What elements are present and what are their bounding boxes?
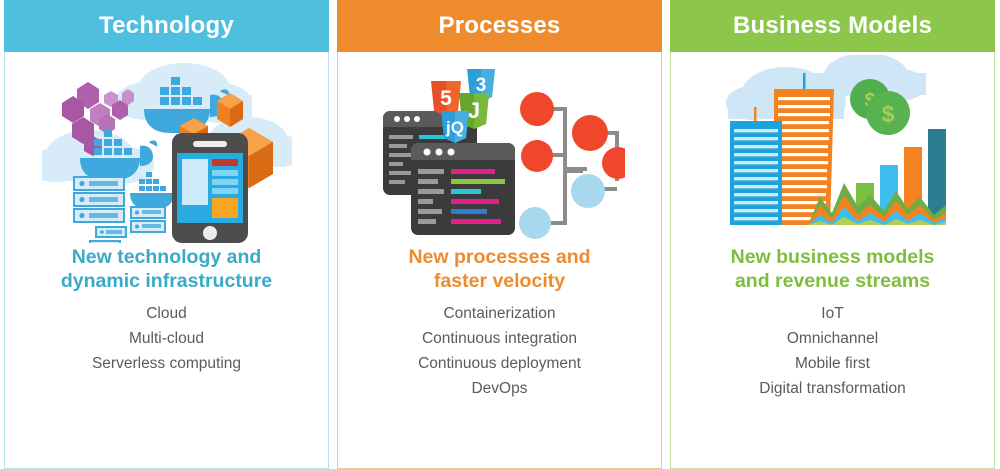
pipeline-node (571, 174, 605, 208)
card-technology: Technology (4, 0, 329, 469)
headline-line-2: and revenue streams (731, 270, 935, 294)
skyscraper-orange (774, 73, 834, 225)
column-technology: Technology (0, 0, 333, 469)
card-title-business-models: Business Models (733, 12, 932, 40)
bullet-list-processes: Containerization Continuous integration … (418, 301, 581, 402)
list-item: IoT (759, 301, 905, 326)
pipeline-node (521, 140, 553, 172)
list-item: Digital transformation (759, 376, 905, 401)
pipeline-node (602, 147, 625, 179)
card-business-models: Business Models (670, 0, 995, 469)
cloud-infrastructure-illustration (5, 54, 328, 244)
headline-line-1: New technology and (61, 246, 272, 270)
list-item: Cloud (92, 301, 241, 326)
card-header-business-models: Business Models (670, 0, 995, 52)
jquery-badge: jQ (441, 111, 469, 143)
svg-text:jQ: jQ (445, 118, 464, 137)
list-item: Multi-cloud (92, 326, 241, 351)
smartphone (172, 133, 248, 243)
column-processes: Processes (333, 0, 666, 469)
card-headline-technology: New technology and dynamic infrastructur… (61, 246, 272, 294)
three-pillar-board: Technology (0, 0, 1000, 469)
card-body-business-models: $ $ (670, 52, 995, 469)
card-headline-business-models: New business models and revenue streams (731, 246, 935, 294)
pipeline-node (572, 115, 608, 151)
svg-text:3: 3 (475, 75, 486, 96)
list-item: Omnichannel (759, 326, 905, 351)
bullet-list-technology: Cloud Multi-cloud Serverless computing (92, 301, 241, 377)
code-editor-window (411, 143, 515, 235)
list-item: DevOps (418, 376, 581, 401)
pipeline-node (520, 92, 554, 126)
card-body-technology: New technology and dynamic infrastructur… (4, 52, 329, 469)
card-processes: Processes (337, 0, 662, 469)
card-title-processes: Processes (439, 12, 561, 40)
card-headline-processes: New processes and faster velocity (408, 246, 590, 294)
city-revenue-illustration: $ $ (671, 54, 994, 244)
pipeline-tree-diagram (519, 92, 625, 239)
column-business-models: Business Models (666, 0, 999, 469)
html5-badge: 5 (431, 81, 461, 116)
list-item: Continuous deployment (418, 351, 581, 376)
headline-line-2: dynamic infrastructure (61, 270, 272, 294)
skyscraper-blue (730, 107, 782, 225)
list-item: Mobile first (759, 351, 905, 376)
list-item: Serverless computing (92, 351, 241, 376)
svg-text:5: 5 (440, 87, 452, 110)
headline-line-1: New processes and (408, 246, 590, 270)
headline-line-2: faster velocity (408, 270, 590, 294)
card-body-processes: 5 3 J (337, 52, 662, 469)
card-header-technology: Technology (4, 0, 329, 52)
headline-line-1: New business models (731, 246, 935, 270)
card-title-technology: Technology (99, 12, 234, 40)
list-item: Containerization (418, 301, 581, 326)
pipeline-node (519, 207, 551, 239)
svg-text:J: J (467, 98, 479, 123)
svg-text:$: $ (881, 101, 894, 127)
code-pipeline-illustration: 5 3 J (338, 54, 661, 244)
card-header-processes: Processes (337, 0, 662, 52)
list-item: Continuous integration (418, 326, 581, 351)
bullet-list-business-models: IoT Omnichannel Mobile first Digital tra… (759, 301, 905, 402)
